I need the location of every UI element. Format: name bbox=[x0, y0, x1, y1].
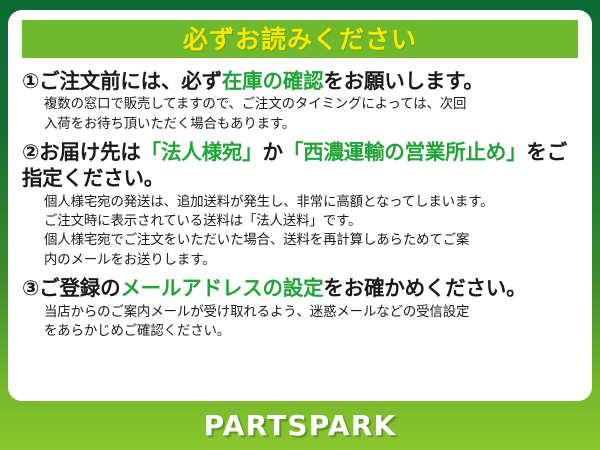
notice-item: ③ご登録のメールアドレスの設定をお確かめください。当店からのご案内メールが受け取… bbox=[22, 275, 580, 341]
footer-bar: PARTSPARK bbox=[0, 401, 600, 450]
header-bar: 必ずお読みください bbox=[22, 20, 578, 58]
notice-banner: 必ずお読みください ①ご注文前には、必ず在庫の確認をお願いします。複数の窓口で販… bbox=[0, 0, 600, 450]
notice-item-heading: ①ご注文前には、必ず在庫の確認をお願いします。 bbox=[22, 68, 580, 94]
brand-logo: PARTSPARK bbox=[204, 412, 397, 440]
notice-item: ①ご注文前には、必ず在庫の確認をお願いします。複数の窓口で販売してますので、ご注… bbox=[22, 68, 580, 134]
notice-body-line: をあらかじめご確認ください。 bbox=[44, 322, 580, 341]
notice-item-marker: ② bbox=[22, 140, 39, 164]
notice-body-line: 当店からのご案内メールが受け取れるよう、迷惑メールなどの受信設定 bbox=[44, 303, 580, 322]
notice-item-list: ①ご注文前には、必ず在庫の確認をお願いします。複数の窓口で販売してますので、ご注… bbox=[8, 68, 592, 346]
highlighted-text: 在庫の確認 bbox=[222, 69, 324, 93]
notice-item-body: 当店からのご案内メールが受け取れるよう、迷惑メールなどの受信設定をあらかじめご確… bbox=[44, 303, 580, 342]
notice-body-line: 入荷をお待ち頂いただく場合もあります。 bbox=[44, 115, 580, 134]
notice-item: ②お届け先は「法人様宛」か「西濃運輸の営業所止め」をご指定ください。個人様宅宛の… bbox=[22, 139, 580, 270]
notice-body-line: 個人様宅宛でご注文をいただいた場合、送料を再計算しあらためてご案 bbox=[44, 231, 580, 250]
page-title: 必ずお読みください bbox=[183, 27, 417, 52]
notice-body-line: ご注文時に表示されている送料は「法人送料」です。 bbox=[44, 212, 580, 231]
heading-text: をお願いします。 bbox=[323, 69, 483, 93]
notice-item-body: 複数の窓口で販売してますので、ご注文のタイミングによっては、次回入荷をお待ち頂い… bbox=[44, 95, 580, 134]
heading-text: をお確かめください。 bbox=[323, 276, 526, 300]
notice-body-line: 個人様宅宛の発送は、追加送料が発生し、非常に高額となってしまいます。 bbox=[44, 193, 580, 212]
heading-text: ご注文前には、必ず bbox=[39, 69, 222, 93]
notice-item-marker: ① bbox=[22, 69, 39, 93]
notice-body-line: 内のメールをお送りします。 bbox=[44, 251, 580, 270]
highlighted-text: 「法人様宛」 bbox=[141, 140, 263, 164]
highlighted-text: メールアドレスの設定 bbox=[120, 276, 323, 300]
heading-text: お届け先は bbox=[39, 140, 141, 164]
notice-card: 必ずお読みください ①ご注文前には、必ず在庫の確認をお願いします。複数の窓口で販… bbox=[8, 10, 592, 401]
heading-text: ご登録の bbox=[39, 276, 120, 300]
notice-item-body: 個人様宅宛の発送は、追加送料が発生し、非常に高額となってしまいます。ご注文時に表… bbox=[44, 193, 580, 271]
notice-item-heading: ②お届け先は「法人様宛」か「西濃運輸の営業所止め」をご指定ください。 bbox=[22, 139, 580, 191]
notice-body-line: 複数の窓口で販売してますので、ご注文のタイミングによっては、次回 bbox=[44, 95, 580, 114]
notice-item-heading: ③ご登録のメールアドレスの設定をお確かめください。 bbox=[22, 275, 580, 301]
heading-text: か bbox=[262, 140, 282, 164]
highlighted-text: 「西濃運輸の営業所止め」 bbox=[283, 140, 527, 164]
notice-item-marker: ③ bbox=[22, 276, 39, 300]
